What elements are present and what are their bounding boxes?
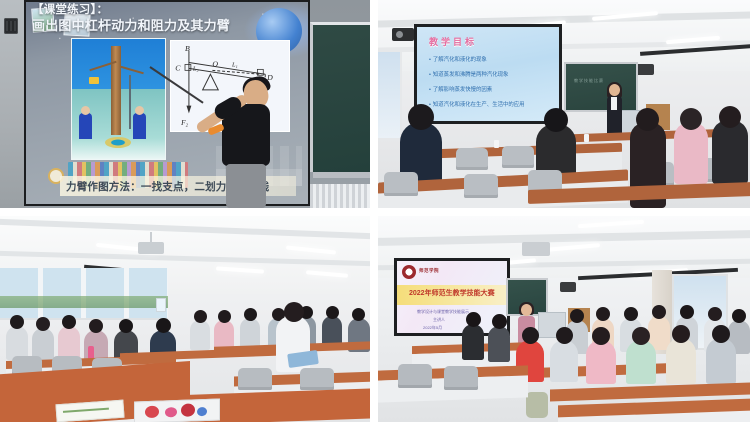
chair <box>464 174 498 198</box>
teacher-shirt <box>611 97 617 110</box>
school-logo-icon <box>402 265 416 279</box>
teacher-figure <box>604 84 624 136</box>
student-figure <box>712 120 748 184</box>
illustration-pole <box>129 75 131 129</box>
student-figure <box>586 340 616 384</box>
student-figure <box>666 338 696 384</box>
wall-speaker-icon <box>560 282 576 292</box>
teacher-head <box>609 84 620 96</box>
slide-bullet-list: 了解汽化和液化的现象 知道蒸发和沸腾是两种汽化现象 了解影响蒸发快慢的因素 知道… <box>429 57 549 117</box>
ceiling-projector-icon <box>392 28 414 41</box>
chair <box>502 146 534 168</box>
slide-title: 教学目标 <box>429 35 477 48</box>
paper-cup <box>584 134 589 142</box>
student-figure <box>58 326 80 360</box>
student-figure <box>190 320 210 350</box>
paper-cup <box>494 140 499 148</box>
chair <box>398 364 432 388</box>
slide-bullet: 知道蒸发和沸腾是两种汽化现象 <box>429 72 549 78</box>
slide-bullet: 了解影响蒸发快慢的因素 <box>429 87 549 93</box>
teacher-pants <box>226 164 266 208</box>
student-figure <box>626 340 656 384</box>
wall-speaker-icon <box>636 64 654 75</box>
slide-illustration <box>71 38 166 160</box>
photo-panel-teaching-objectives-lecture: 教学目标 了解汽化和液化的现象 知道蒸发和沸腾是两种汽化现象 了解影响蒸发快慢的… <box>378 0 750 208</box>
illustration-figure-right <box>133 113 146 139</box>
student-figure <box>6 326 28 360</box>
projection-screen: 教学目标 了解汽化和液化的现象 知道蒸发和沸腾是两种汽化现象 了解影响蒸发快慢的… <box>414 24 562 124</box>
photo-collage: 【课堂练习】： 画出图中杠杆动力和阻力及其力臂 <box>0 0 750 422</box>
laptop-sticker <box>145 406 159 418</box>
radiator <box>310 184 370 208</box>
ceiling-projector-icon <box>522 242 550 256</box>
slide-title-line1: 【课堂练习】： <box>32 4 108 16</box>
student-figure <box>488 326 510 362</box>
chalk-tray <box>313 172 370 178</box>
slide-title: 【课堂练习】： 画出图中杠杆动力和阻力及其力臂 <box>32 4 297 33</box>
chair <box>384 172 418 196</box>
laptop-with-stickers <box>134 398 220 422</box>
student-figure <box>706 338 736 384</box>
slide-title: 2022年师范生教学技能大赛 <box>409 288 495 298</box>
slide-bullet: 了解汽化和液化的现象 <box>429 57 549 63</box>
svg-text:L₂: L₂ <box>192 65 200 72</box>
slide-title-line2: 画出图中杠杆动力和阻力及其力臂 <box>32 18 297 33</box>
ceiling-projector-icon <box>138 242 164 254</box>
slide-date: 2022年5月 <box>423 325 442 331</box>
chair <box>456 148 488 170</box>
student-figure <box>674 122 708 184</box>
illustration-tree-trunk <box>111 46 121 135</box>
student-figure <box>240 318 260 348</box>
chair <box>300 368 334 390</box>
slide-bullet: 知道汽化和液化在生产、生活中的应用 <box>429 102 549 108</box>
green-chalkboard <box>310 22 370 172</box>
backpack <box>526 392 548 418</box>
student-figure <box>550 340 578 382</box>
illustration-lamp <box>89 77 99 84</box>
laptop-sticker <box>181 403 195 416</box>
side-window <box>378 52 402 138</box>
svg-text:L₁: L₁ <box>231 61 238 68</box>
svg-text:B: B <box>185 44 190 53</box>
student-figure <box>462 324 484 360</box>
speaker-head <box>521 304 532 316</box>
svg-text:F₂: F₂ <box>180 118 188 127</box>
photo-panel-2022-normal-student-event: 师范学院 2022年师范生教学技能大赛 教学设计与课堂教学技能展示 主讲人 20… <box>378 216 750 422</box>
illustration-figure-left <box>79 113 92 139</box>
laptop-sticker <box>165 407 177 417</box>
green-chalkboard: 教学技能比赛 <box>564 62 638 112</box>
outdoor-greenery <box>0 296 168 308</box>
school-logo-text: 师范学院 <box>419 268 439 274</box>
ceiling-speaker-icon <box>4 18 18 34</box>
notebook-text-line <box>63 408 109 413</box>
open-folder <box>287 350 319 368</box>
slide-presenter: 主讲人 <box>433 317 445 323</box>
chair <box>444 366 478 390</box>
chair <box>238 368 272 390</box>
slide-subtitle: 教学设计与课堂教学技能展示 <box>417 309 469 315</box>
svg-text:C: C <box>175 63 181 72</box>
desk-row <box>550 383 750 402</box>
photo-panel-lever-physics-lesson: 【课堂练习】： 画出图中杠杆动力和阻力及其力臂 <box>0 0 370 208</box>
chalkboard-writing: 教学技能比赛 <box>574 78 604 84</box>
teacher-figure <box>196 80 286 208</box>
photo-panel-wide-classroom-students <box>0 216 370 422</box>
svg-text:O: O <box>212 59 218 68</box>
laptop-sticker <box>197 407 207 416</box>
